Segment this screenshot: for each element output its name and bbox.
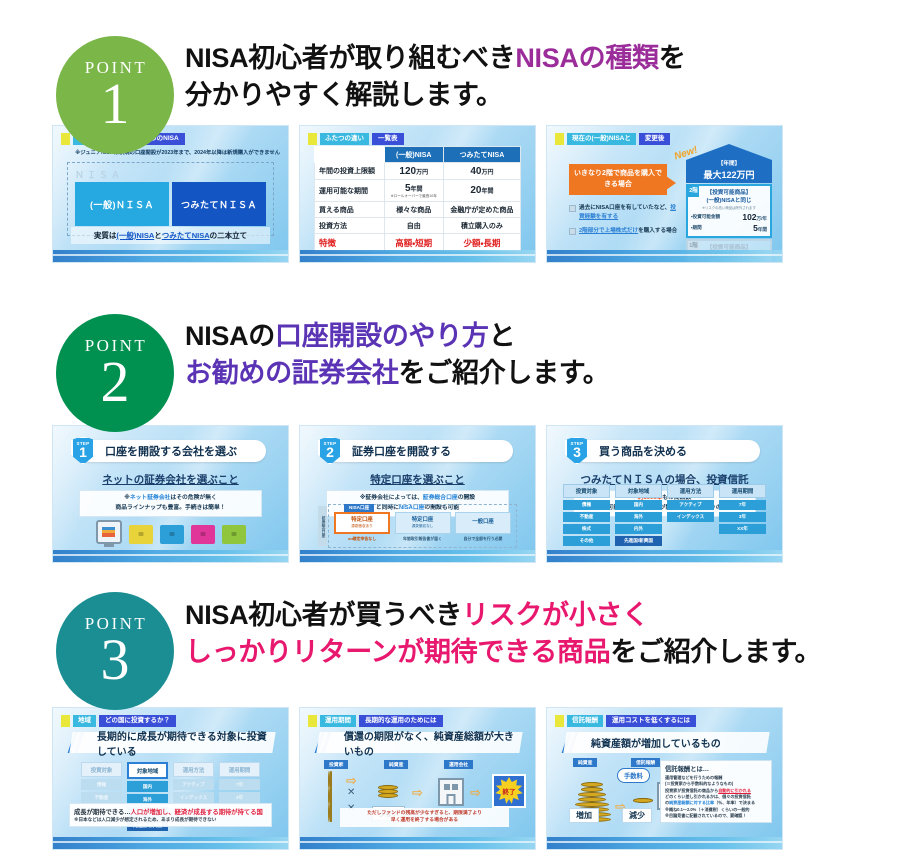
info-title: 信託報酬とは…	[665, 764, 767, 773]
info-line-5-post: （％、年率）で決まる	[714, 800, 755, 805]
category-column: 投資対象債権不動産株式その他	[563, 484, 610, 546]
info-line-4: どのくらい差し引かれるかは、個々の投資信託	[665, 794, 751, 799]
fee-captions: 増加 減少	[569, 808, 652, 823]
slide-bottom-bar	[53, 837, 288, 849]
briefcase-yellow-icon	[129, 525, 153, 544]
category-header: 投資対象	[563, 484, 610, 498]
slide-callout: いきなり2階で商品を購入できる場合	[569, 164, 667, 195]
investor-person-icon	[328, 772, 337, 785]
table-cell: 積立購入のみ	[443, 218, 520, 234]
point-number-1: 1	[101, 76, 130, 131]
info-line-3-pre: 投資家が投資信託の商品から	[665, 788, 718, 793]
table-head: (一般)NISA つみたてNISA	[315, 147, 521, 163]
briefcase-green-icon	[222, 525, 246, 544]
thumbnail-row-2: 口座を開設する会社を選ぶ STEP 1 ネットの証券会社を選ぶこと ※ネット証券…	[0, 425, 915, 563]
tab-marker-icon	[308, 133, 317, 145]
headline-accent-text: リスクが小さく	[462, 600, 649, 630]
headline-text: をご紹介します。	[399, 358, 610, 388]
trust-fee-info-box: 信託報酬とは… 運用管理などを行うための報酬 (＝投資家から手数料的なようなもの…	[660, 760, 772, 823]
floor-2-unit: 万/年	[757, 216, 767, 221]
category-cell[interactable]: インデックス	[667, 512, 714, 522]
category-header: 運用期間	[719, 484, 766, 498]
step-subtitle: ネットの証券会社を選ぶこと	[53, 472, 288, 487]
slide-tab-row: 地域 どの国に投資するか？	[61, 715, 176, 727]
note-line2: 商品ラインナップも豊富。手続きは簡単！	[115, 505, 225, 511]
table-cell: 20年間	[443, 180, 520, 202]
investor-person-icon	[328, 788, 337, 801]
floor-2-number: 2階	[688, 186, 699, 197]
table-body: 年間の投資上限額120万円40万円運用可能な期間5年間※ロールオーバーで最長10…	[315, 163, 521, 252]
category-column: 対象地域国内海外内外先進国/新興国	[615, 484, 662, 546]
tab-category-label: 現在の(一般)NISAと	[567, 133, 636, 145]
note-highlight: 証券総合口座	[423, 495, 458, 501]
criteria-header: 運用期間	[219, 762, 260, 777]
point-headline-1: NISA初心者が取り組むべきNISAの種類を分かりやすく解説します。	[185, 40, 685, 115]
checkbox-icon	[569, 228, 576, 235]
category-cells: アクティブインデックス	[667, 500, 714, 522]
info-line-1: 運用管理などを行うための報酬	[665, 775, 722, 780]
slide-bottom-bar	[547, 837, 782, 849]
account-subtitle: 源泉徴収あり	[351, 524, 373, 529]
headline-line: NISA初心者が取り組むべきNISAの種類を	[185, 40, 685, 77]
headline-text: 分かりやすく解説します。	[185, 80, 503, 110]
category-cell[interactable]: その他	[563, 536, 610, 546]
floor-2-label-2: ・期間	[691, 225, 702, 231]
tab-topic-label: 一覧表	[372, 133, 404, 145]
point-headline-2: NISAの口座開設のやり方とお勧めの証券会社をご紹介します。	[185, 318, 610, 393]
tab-category-label: 地域	[73, 715, 96, 727]
floor-2-row-1: ・投資可能金額102万/年	[691, 212, 767, 222]
caption-decrease: 減少	[622, 808, 652, 823]
step-title-bar: 買う商品を決める	[573, 440, 760, 462]
info-line-6: ※概ね0.1〜2.0%（＋消費税）くらいの一般的	[665, 807, 750, 812]
slide-thumbnail-trust-fee[interactable]: 信託報酬 運用コストを低くするには 純資産額が増加しているもの 純資産 信託報酬…	[546, 707, 783, 850]
table-cell: 特徴	[315, 234, 385, 252]
slide-title: 純資産額が増加しているもの	[591, 735, 721, 750]
table-col-blank	[315, 147, 385, 163]
headline-line: NISA初心者が買うべきリスクが小さく	[185, 597, 821, 634]
slide-footer-note: 成長が期待できる…人口が増加し、経済が成長する期待が持てる国 ※日本などは人口減…	[69, 803, 272, 828]
step-title: 買う商品を決める	[599, 443, 687, 459]
arrow-right-icon: ⇨	[470, 786, 481, 799]
floor-2-title-a: 【投資可能商品】	[691, 189, 767, 197]
info-line-2: (＝投資家から手数料的なようなもの)	[665, 781, 733, 786]
category-cell[interactable]: 7年	[719, 500, 766, 510]
footer-highlight: 人口が増加し、経済が成長する期待が持てる国	[131, 809, 263, 816]
point-badge-2: POINT 2	[56, 314, 174, 432]
criteria-header: 対象地域	[127, 762, 168, 779]
slide-bottom-bar	[53, 550, 288, 562]
slide-thumbnail-new-nisa-structure[interactable]: 現在の(一般)NISAと 変更後 いきなり2階で商品を購入できる場合 過去にNI…	[546, 125, 783, 263]
point-section-3: POINT 3 NISA初心者が買うべきリスクが小さくしっかりリターンが期待でき…	[0, 564, 915, 862]
slide-bottom-bar	[300, 837, 535, 849]
account-card: 一般口座	[455, 512, 511, 534]
house-diagram: 【年間】 最大122万円 2階 【投資可能商品】 (一般)NISAと同じ ※リス…	[686, 144, 772, 263]
category-cell[interactable]: 株式	[563, 524, 610, 534]
table-row: 特徴高額・短期少額・長期	[315, 234, 521, 252]
note-mid: はその危険が無く	[170, 495, 216, 501]
bullet-post: を購入する場合	[638, 228, 677, 234]
category-cell[interactable]: 債権	[563, 500, 610, 510]
chip-assets: 純資産	[573, 758, 597, 767]
category-cell[interactable]: 先進国/新興国	[615, 536, 662, 546]
category-cell[interactable]: 海外	[615, 512, 662, 522]
footer-line-1: 成長が期待できる…人口が増加し、経済が成長する期待が持てる国	[74, 807, 267, 816]
category-cell[interactable]: 不動産	[563, 512, 610, 522]
criteria-header: 投資対象	[81, 762, 122, 777]
point-badge-3: POINT 3	[56, 592, 174, 710]
chart-bars-icon	[102, 527, 115, 537]
briefcase-blue-icon	[160, 525, 184, 544]
headline-line: しっかりリターンが期待できる商品をご紹介します。	[185, 634, 821, 671]
step-title: 口座を開設する会社を選ぶ	[105, 443, 237, 459]
slide-tab-row: ふたつの違い 一覧表	[308, 133, 404, 145]
briefcase-pink-icon	[191, 525, 215, 544]
criteria-cell[interactable]: 不動産	[81, 792, 122, 803]
category-cells: 7年3年XX年	[719, 500, 766, 534]
tab-marker-icon	[308, 715, 317, 727]
account-caption: 自分で全部を行う必要	[455, 536, 511, 542]
headline-accent-text: 口座開設のやり方	[275, 321, 489, 351]
floor-2-value-1: 102万/年	[742, 212, 767, 222]
bullet-item: 2階部分で上場株式だけを購入する場合	[569, 227, 679, 236]
table-cell: 投資方法	[315, 218, 385, 234]
slide-tab-row: 運用期間 長期的な運用のためには	[308, 715, 443, 727]
slide-title-bar: 純資産額が増加しているもの	[563, 732, 769, 753]
product-category-grid: 投資対象債権不動産株式その他対象地域国内海外内外先進国/新興国運用方法アクティブ…	[563, 484, 766, 546]
headline-text: NISA初心者が取り組むべき	[185, 43, 515, 73]
criteria-cell[interactable]: 国内	[127, 781, 168, 792]
point-section-2: POINT 2 NISAの口座開設のやり方とお勧めの証券会社をご紹介します。 口…	[0, 282, 915, 564]
coin-stack-icon	[378, 782, 400, 798]
slide-thumbnail-step1-choose-company[interactable]: 口座を開設する会社を選ぶ STEP 1 ネットの証券会社を選ぶこと ※ネット証券…	[52, 425, 289, 563]
slide-footer-banner: 実質は(一般)NISAとつみたてNISAの二本立て	[71, 227, 270, 244]
category-header: 運用方法	[667, 484, 714, 498]
tab-category-label: ふたつの違い	[320, 133, 369, 145]
info-line-3-highlight: 自動的に引かれる	[718, 788, 751, 793]
criteria-cell[interactable]: アクティブ	[173, 779, 214, 790]
slide-bottom-bar	[547, 250, 782, 262]
slide-group-label: ＮＩＳＡ	[75, 168, 123, 181]
roof-main-label: 最大122万円	[686, 169, 772, 181]
bullet-item: 過去にNISA口座を有していたなど、投資経験を有する	[569, 204, 679, 222]
tab-topic-label: 変更後	[639, 133, 671, 145]
step-title: 証券口座を開設する	[352, 443, 451, 459]
account-caption: он確定申告なし	[334, 536, 390, 542]
nisa-account-chip: NISA口座	[344, 504, 374, 512]
footer-pre: 成長が期待できる…	[74, 809, 131, 816]
tab-marker-icon	[555, 133, 564, 145]
table-row: 買える商品様々な商品金融庁が定めた商品	[315, 202, 521, 218]
house-floor-2: 2階 【投資可能商品】 (一般)NISAと同じ ※リスクの高い商品は除外されます…	[686, 184, 772, 239]
floor-2-row-2: ・期間5年間	[691, 223, 767, 233]
info-line-7: ※目論見書に記載されているので、要確認！	[665, 813, 746, 818]
termination-burst-icon: 終了	[492, 774, 526, 808]
category-cell[interactable]: XX年	[719, 524, 766, 534]
comparison-table: (一般)NISA つみたてNISA 年間の投資上限額120万円40万円運用可能な…	[314, 146, 521, 252]
slide-footer-note: ただしファンドの残高が少なすぎると、期限満了より 早く運用を終了する場合がある	[340, 808, 509, 827]
tab-marker-icon	[61, 715, 70, 727]
criteria-header: 運用方法	[173, 762, 214, 777]
table-row: 投資方法自由積立購入のみ	[315, 218, 521, 234]
point-headline-3: NISA初心者が買うべきリスクが小さくしっかりリターンが期待できる商品をご紹介し…	[185, 597, 821, 672]
slide-bottom-bar	[547, 550, 782, 562]
criteria-cell[interactable]: インデックス	[173, 792, 214, 803]
table-cell: 金融庁が定めた商品	[443, 202, 520, 218]
account-type-box[interactable]: 特定口座源泉徴収なし年間取引報告書が届く	[395, 512, 451, 542]
tab-marker-icon	[61, 133, 70, 145]
table-cell: 120万円	[384, 163, 443, 180]
bullet-text: 過去にNISA口座を有していたなど、投資経験を有する	[579, 204, 679, 222]
account-subtitle: 源泉徴収なし	[412, 524, 434, 529]
fee-balloon: 手数料	[617, 768, 650, 783]
star-shape-icon: 終了	[495, 777, 523, 805]
headline-text: NISA初心者が買うべき	[185, 600, 462, 630]
headline-line: NISAの口座開設のやり方と	[185, 318, 610, 355]
tab-category-label: 運用期間	[320, 715, 356, 727]
floor-2-title-b: (一般)NISAと同じ	[691, 197, 767, 205]
category-column: 運用方法アクティブインデックス	[667, 484, 714, 546]
headline-line: お勧めの証券会社をご紹介します。	[185, 355, 610, 392]
chip-investor: 投資家	[324, 760, 348, 769]
criteria-cell[interactable]: 3年	[219, 792, 260, 803]
category-column: 運用期間7年3年XX年	[719, 484, 766, 546]
step-number: 1	[73, 445, 93, 459]
investor-person-icon	[328, 804, 337, 817]
table-row: 年間の投資上限額120万円40万円	[315, 163, 521, 180]
roof-sub-label: 【年間】	[686, 161, 772, 169]
tab-topic-label: 運用コストを低くするには	[606, 715, 696, 727]
table-cell: 年間の投資上限額	[315, 163, 385, 180]
headline-text: NISAの	[185, 321, 275, 351]
headline-text: をご紹介します。	[610, 637, 821, 667]
table-cell: 買える商品	[315, 202, 385, 218]
slide-thumbnail-comparison-table[interactable]: ふたつの違い 一覧表 (一般)NISA つみたてNISA 年間の投資上限額120…	[299, 125, 536, 263]
table-cell: 様々な商品	[384, 202, 443, 218]
footer-highlight-1: (一般)NISA	[116, 230, 154, 241]
tab-topic-label: どの国に投資するか？	[99, 715, 176, 727]
online-trading-monitor-icon	[96, 520, 122, 544]
table-col-general: (一般)NISA	[384, 147, 443, 163]
account-card: 特定口座源泉徴収あり	[334, 512, 390, 534]
table-cell: 40万円	[443, 163, 520, 180]
floor-2-amount: 102	[742, 212, 756, 222]
burst-label: 終了	[503, 786, 516, 796]
step-subtitle: 特定口座を選ぶこと	[300, 472, 535, 487]
info-body: 運用管理などを行うための報酬 (＝投資家から手数料的なようなもの) 投資家が投資…	[665, 775, 767, 819]
footer-post-text: の二本立て	[210, 230, 248, 241]
bullet-pre: 過去にNISA口座を有していたなど、	[579, 205, 670, 211]
info-line-5-highlight: 純資産総額に対する比率	[669, 800, 714, 805]
tab-category-label: 信託報酬	[567, 715, 603, 727]
category-cell[interactable]: アクティブ	[667, 500, 714, 510]
step-title-bar: 口座を開設する会社を選ぶ	[79, 440, 266, 462]
account-title: 一般口座	[472, 519, 494, 526]
slide-bullet-list: 過去にNISA口座を有していたなど、投資経験を有する 2階部分で上場株式だけを購…	[569, 204, 679, 241]
slide-title-bar: 償還の期限がなく、純資産総額が大きいもの	[316, 732, 522, 753]
category-cells: 債権不動産株式その他	[563, 500, 610, 546]
category-cell[interactable]: 3年	[719, 512, 766, 522]
account-card: 特定口座源泉徴収なし	[395, 512, 451, 534]
slide-thumbnail-step2-open-account[interactable]: 証券口座を開設する STEP 2 特定口座を選ぶこと ※証券会社によっては、証券…	[299, 425, 536, 563]
step-number: 3	[567, 445, 587, 459]
table-row: 運用可能な期間5年間※ロールオーバーで最長10年20年間	[315, 180, 521, 202]
step-title-bar: 証券口座を開設する	[326, 440, 513, 462]
chip-assets: 純資産	[384, 760, 408, 769]
floor-2-label-1: ・投資可能金額	[691, 214, 720, 220]
headline-line: 分かりやすく解説します。	[185, 77, 685, 114]
slide-title: 償還の期限がなく、純資産総額が大きいもの	[344, 728, 521, 758]
headline-text: と	[489, 321, 516, 351]
caption-increase: 増加	[569, 808, 599, 823]
category-cell[interactable]: 内外	[615, 524, 662, 534]
slide-tab-row: 現在の(一般)NISAと 変更後	[555, 133, 670, 145]
company-building-icon	[438, 778, 464, 806]
table-cell: 5年間※ロールオーバーで最長10年	[384, 180, 443, 202]
slide-bottom-bar	[300, 550, 535, 562]
nisa-tsumitate-box: つみたてＮＩＳＡ	[172, 182, 266, 226]
tab-topic-label: 長期的な運用のためには	[359, 715, 443, 727]
table-col-tsumitate: つみたてNISA	[443, 147, 520, 163]
note-post: の開設	[458, 495, 475, 501]
floor-2-note: ※リスクの高い商品は除外されます	[691, 205, 767, 210]
chip-fee: 信託報酬	[631, 758, 660, 767]
note-highlight: ネット証券会社	[130, 495, 171, 501]
step-number: 2	[320, 445, 340, 459]
criteria-cell[interactable]: 7年	[219, 779, 260, 790]
footer-line-2: ※日本などは人口減少が想定されるため、あまり成長が期待できない	[74, 817, 267, 823]
slide-nisa-boxes: (一般)ＮＩＳＡ つみたてＮＩＳＡ	[75, 182, 266, 226]
footer-mid-text: と	[154, 230, 162, 241]
bullet-highlight: 2階部分で上場株式だけ	[579, 228, 638, 234]
footer-line-2: 早く運用を終了する場合がある	[343, 817, 506, 825]
category-cell[interactable]: 国内	[615, 500, 662, 510]
house-roof-band: 【年間】 最大122万円	[686, 160, 772, 183]
account-caption: 年間取引報告書が届く	[395, 536, 451, 542]
floor-2-years-unit: 年間	[758, 227, 767, 232]
table-cell: 高額・短期	[384, 234, 443, 252]
bullet-text: 2階部分で上場株式だけを購入する場合	[579, 227, 677, 236]
account-side-label: 証券総合口座	[318, 506, 327, 546]
slide-title-bar: 長期的に成長が期待できる対象に投資している	[69, 732, 275, 753]
cross-mark-icon: ✕	[347, 788, 355, 798]
headline-accent-text: お勧めの証券会社	[185, 358, 399, 388]
table-cell: 自由	[384, 218, 443, 234]
footer-pre-text: 実質は	[94, 230, 117, 241]
account-type-boxes: 特定口座源泉徴収ありон確定申告なし特定口座源泉徴収なし年間取引報告書が届く一般…	[334, 512, 511, 542]
arrow-right-icon: ⇨	[412, 786, 423, 799]
account-type-box[interactable]: 特定口座源泉徴収ありон確定申告なし	[334, 512, 390, 542]
thumbnail-row-3: 地域 どの国に投資するか？ 長期的に成長が期待できる対象に投資している 投資対象…	[0, 707, 915, 850]
criteria-cell[interactable]: 債権	[81, 779, 122, 790]
footer-line-1: ただしファンドの残高が少なすぎると、期限満了より	[343, 810, 506, 818]
note-pre: ※証券会社によっては、	[360, 495, 423, 501]
slide-bottom-bar	[53, 250, 288, 262]
slide-thumbnail-fund-size[interactable]: 運用期間 長期的な運用のためには 償還の期限がなく、純資産総額が大きいもの 投資…	[299, 707, 536, 850]
broker-icons-row	[53, 520, 288, 544]
chip-company: 運用会社	[444, 760, 473, 769]
slide-thumbnail-growth-region[interactable]: 地域 どの国に投資するか？ 長期的に成長が期待できる対象に投資している 投資対象…	[52, 707, 289, 850]
headline-accent-text: しっかりリターンが期待できる商品	[185, 637, 610, 667]
arrow-right-icon: ⇨	[346, 774, 357, 787]
criteria-cells: アクティブインデックス	[173, 779, 214, 803]
slide-bottom-bar	[300, 250, 535, 262]
category-header: 対象地域	[615, 484, 662, 498]
slide-tab-row: 信託報酬 運用コストを低くするには	[555, 715, 696, 727]
table-header-row: (一般)NISA つみたてNISA	[315, 147, 521, 163]
step-note: ※ネット証券会社はその危険が無く 商品ラインナップも豊富。手続きは簡単！	[79, 490, 262, 517]
footer-highlight-2: つみたてNISA	[162, 230, 210, 241]
account-type-box[interactable]: 一般口座自分で全部を行う必要	[455, 512, 511, 542]
category-cells: 国内海外内外先進国/新興国	[615, 500, 662, 546]
point-section-1: POINT 1 NISA初心者が取り組むべきNISAの種類を分かりやすく解説しま…	[0, 0, 915, 282]
table-cell: 運用可能な期間	[315, 180, 385, 202]
floor-2-value-2: 5年間	[753, 223, 767, 233]
headline-accent-text: NISAの種類	[515, 43, 658, 73]
point-badge-1: POINT 1	[56, 36, 174, 154]
point-number-2: 2	[101, 354, 130, 409]
slide-thumbnail-step3-choose-product[interactable]: 買う商品を決める STEP 3 つみたてＮＩＳＡの場合、投資信託 約5900本も…	[546, 425, 783, 563]
slide-title: 長期的に成長が期待できる対象に投資している	[97, 728, 274, 758]
point-number-3: 3	[101, 632, 130, 687]
house-roof-icon	[686, 144, 772, 160]
nisa-general-box: (一般)ＮＩＳＡ	[75, 182, 169, 226]
table-cell: 少額・長期	[443, 234, 520, 252]
tab-marker-icon	[555, 715, 564, 727]
checkbox-icon	[569, 205, 576, 212]
headline-text: を	[659, 43, 686, 73]
